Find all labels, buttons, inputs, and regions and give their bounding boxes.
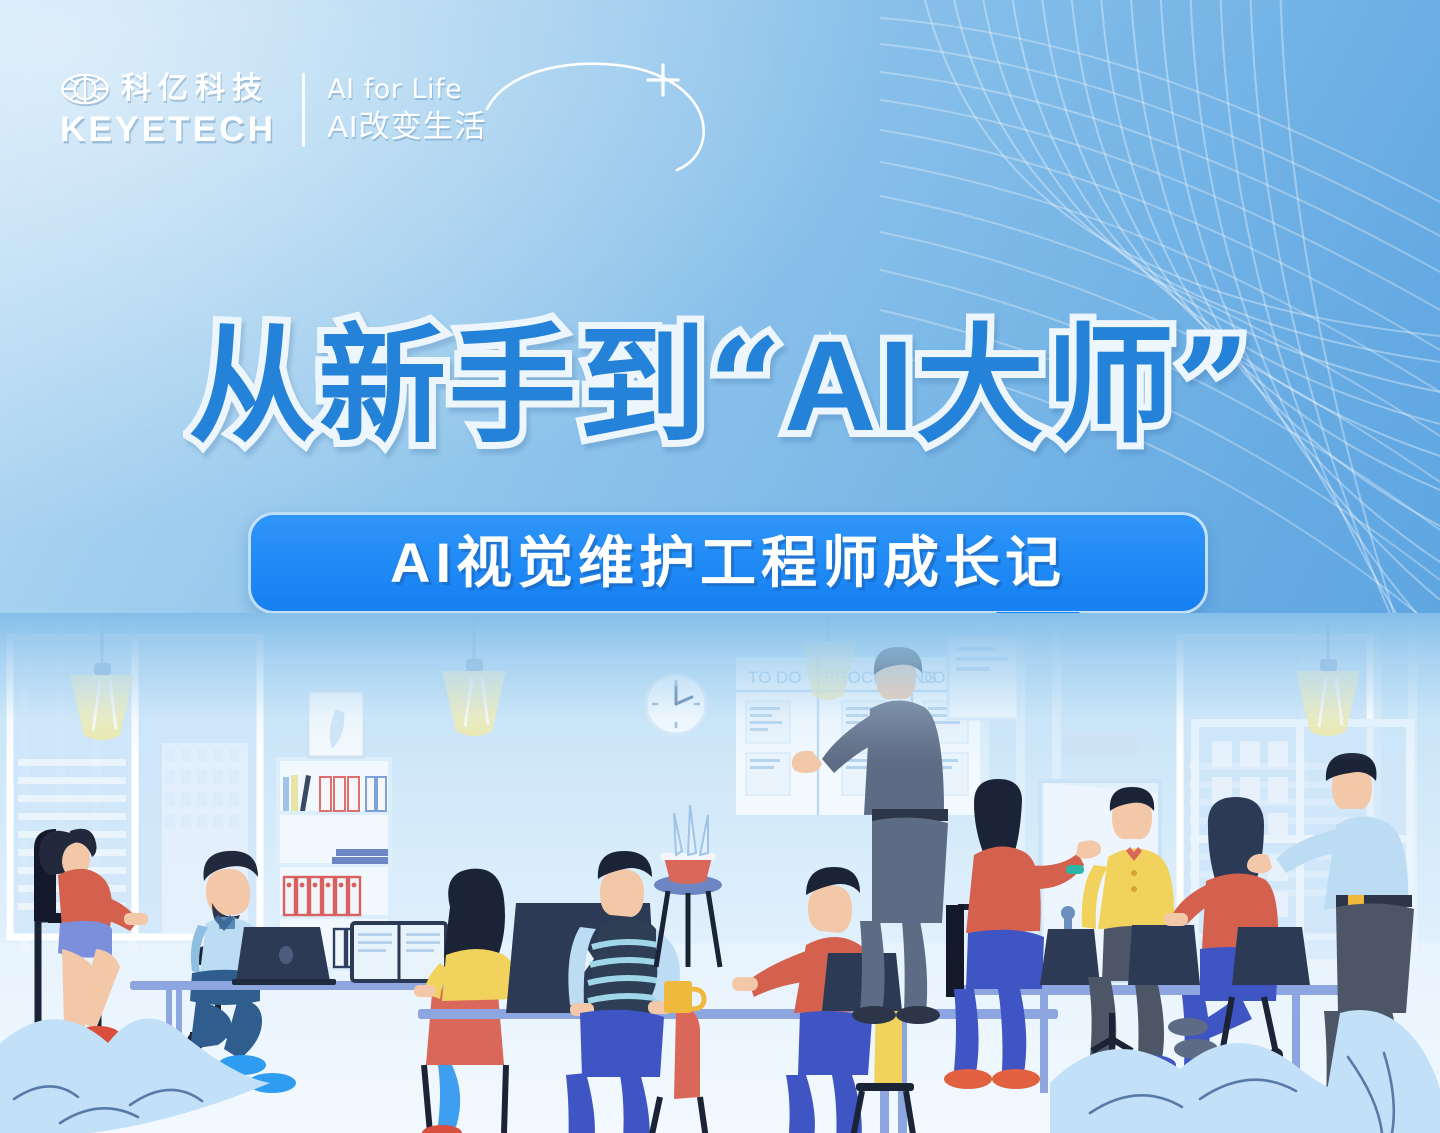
brand-name-en: KEYETECH bbox=[60, 112, 276, 147]
laptop-4 bbox=[1040, 929, 1100, 985]
subtitle-text: AI视觉维护工程师成长记 bbox=[390, 535, 1066, 591]
office-illustration: TO DO PROCESSING DONE bbox=[0, 613, 1440, 1133]
laptop-5 bbox=[1128, 925, 1200, 985]
brand-logo-left: 科亿科技 KEYETECH bbox=[60, 72, 276, 147]
title-quote-close: ” bbox=[1176, 311, 1252, 461]
laptop-1 bbox=[232, 927, 336, 985]
wall-clock bbox=[646, 674, 706, 734]
brand-slogan-en: AI for Life bbox=[327, 75, 486, 104]
title-part-2: AI大师 bbox=[784, 315, 1176, 458]
brand-logo[interactable]: 科亿科技 KEYETECH AI for Life AI改变生活 bbox=[60, 72, 486, 147]
brand-slogan-block: AI for Life AI改变生活 bbox=[327, 75, 486, 143]
subtitle-banner-body: AI视觉维护工程师成长记 bbox=[248, 512, 1208, 614]
brand-slogan-cn: AI改变生活 bbox=[327, 110, 486, 144]
laptop-6 bbox=[1232, 927, 1310, 985]
subtitle-banner: AI视觉维护工程师成长记 bbox=[248, 512, 1208, 614]
logo-divider bbox=[302, 73, 305, 147]
page-title: 从新手到“AI大师” bbox=[0, 322, 1440, 451]
monitor-1 bbox=[352, 923, 446, 981]
poster-canvas: 科亿科技 KEYETECH AI for Life AI改变生活 从新手到“AI… bbox=[0, 0, 1440, 1133]
brand-name-cn: 科亿科技 bbox=[121, 74, 269, 104]
orbit-swoosh-icon bbox=[477, 57, 737, 172]
svg-text:TO DO: TO DO bbox=[748, 668, 802, 687]
eye-logo-icon bbox=[60, 72, 110, 106]
brand-logo-top-row: 科亿科技 bbox=[60, 72, 276, 106]
sparkle-icon bbox=[648, 65, 678, 95]
title-part-1: 从新手到 bbox=[188, 315, 708, 458]
title-quote-open: “ bbox=[708, 311, 784, 461]
